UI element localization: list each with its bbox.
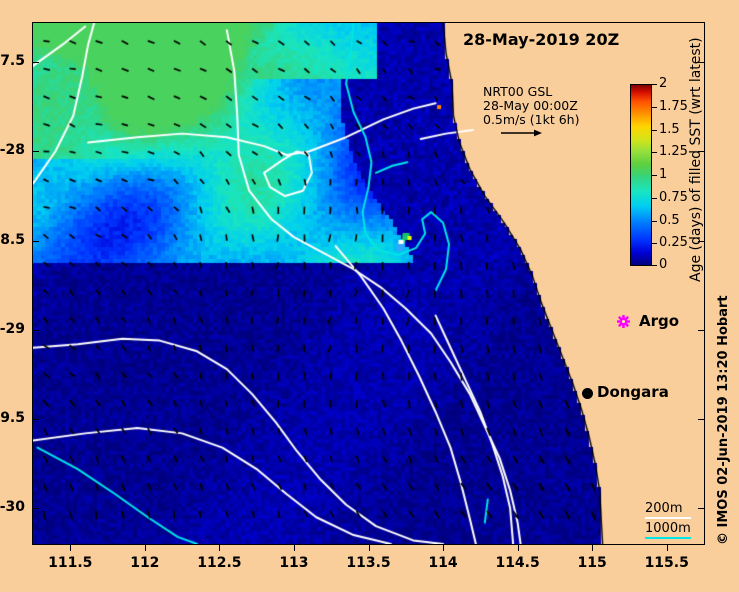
colorbar-tick bbox=[652, 130, 657, 131]
x-axis-label: 113 bbox=[264, 555, 324, 571]
colorbar-tick-label: 2 bbox=[659, 76, 667, 91]
x-axis-label: 113.5 bbox=[339, 555, 399, 571]
x-axis-tick bbox=[518, 544, 519, 551]
x-axis-label: 115 bbox=[562, 555, 622, 571]
x-axis-tick bbox=[219, 544, 220, 551]
colorbar-gradient bbox=[630, 84, 652, 266]
figure-root: 28-May-2019 20Z NRT00 GSL 28-May 00:00Z … bbox=[0, 0, 739, 592]
colorbar-tick bbox=[652, 198, 657, 199]
vector-legend-line-1: NRT00 GSL bbox=[483, 85, 579, 99]
x-axis-tick bbox=[145, 544, 146, 551]
x-axis-label: 112 bbox=[115, 555, 175, 571]
x-axis-tick bbox=[443, 544, 444, 551]
x-axis-label: 115.5 bbox=[637, 555, 697, 571]
colorbar-tick bbox=[652, 243, 657, 244]
argo-star-icon bbox=[617, 315, 630, 328]
colorbar-tick bbox=[652, 152, 657, 153]
bathymetry-depth-legend: 200m 1000m bbox=[645, 500, 691, 540]
x-axis-label: 114 bbox=[413, 555, 473, 571]
y-axis-tick-right bbox=[698, 151, 705, 152]
x-axis-label: 114.5 bbox=[488, 555, 548, 571]
argo-legend-label: Argo bbox=[639, 312, 679, 330]
y-axis-label: -28 bbox=[0, 142, 25, 158]
colorbar-tick-label: 0.25 bbox=[659, 235, 688, 250]
x-axis-tick bbox=[294, 544, 295, 551]
y-axis-tick bbox=[32, 151, 39, 152]
colorbar-axis-title: Age (days) of filled SST (wrt latest) bbox=[688, 72, 704, 282]
colorbar-tick-label: 1.5 bbox=[659, 122, 680, 137]
depth-legend-label-200m: 200m bbox=[645, 501, 682, 516]
y-axis-tick-right bbox=[698, 330, 705, 331]
depth-legend-row-1000m: 1000m bbox=[645, 520, 691, 540]
credit-text: © IMOS 02-Jun-2019 13:20 Hobart bbox=[716, 285, 731, 545]
dongara-label: Dongara bbox=[597, 383, 669, 401]
y-axis-tick-right bbox=[698, 62, 705, 63]
y-axis-label: -28.5 bbox=[0, 232, 25, 248]
y-axis-tick bbox=[32, 62, 39, 63]
depth-legend-rule-200m bbox=[645, 517, 691, 519]
y-axis-tick-right bbox=[698, 508, 705, 509]
y-axis-tick bbox=[32, 419, 39, 420]
y-axis-tick bbox=[32, 330, 39, 331]
map-title: 28-May-2019 20Z bbox=[463, 30, 619, 49]
map-overlays bbox=[33, 23, 704, 544]
depth-legend-rule-1000m bbox=[645, 537, 691, 539]
x-axis-tick bbox=[667, 544, 668, 551]
colorbar-tick bbox=[652, 175, 657, 176]
right-arrow-icon bbox=[500, 128, 542, 138]
y-axis-tick-right bbox=[698, 241, 705, 242]
colorbar-tick-label: 1.75 bbox=[659, 99, 688, 114]
colorbar-tick bbox=[652, 221, 657, 222]
y-axis-tick-right bbox=[698, 419, 705, 420]
y-axis-tick bbox=[32, 241, 39, 242]
argo-legend: Argo bbox=[617, 312, 679, 330]
colorbar-tick-label: 1 bbox=[659, 167, 667, 182]
colorbar-tick-label: 0 bbox=[659, 257, 667, 272]
colorbar[interactable]: 21.751.51.2510.750.50.250 bbox=[630, 84, 652, 266]
y-axis-tick bbox=[32, 508, 39, 509]
y-axis-label: -29.5 bbox=[0, 410, 25, 426]
colorbar-tick bbox=[652, 107, 657, 108]
colorbar-tick bbox=[652, 265, 657, 266]
dongara-marker-dot bbox=[582, 388, 593, 399]
depth-legend-label-1000m: 1000m bbox=[645, 521, 691, 536]
x-axis-tick bbox=[70, 544, 71, 551]
depth-legend-row-200m: 200m bbox=[645, 500, 691, 520]
x-axis-tick bbox=[592, 544, 593, 551]
colorbar-tick-label: 1.25 bbox=[659, 144, 688, 159]
colorbar-tick-label: 0.75 bbox=[659, 190, 688, 205]
current-vector-legend: NRT00 GSL 28-May 00:00Z 0.5m/s (1kt 6h) bbox=[483, 85, 579, 127]
x-axis-tick bbox=[369, 544, 370, 551]
map-plot-area[interactable] bbox=[32, 22, 705, 545]
y-axis-label: -29 bbox=[0, 321, 25, 337]
x-axis-label: 112.5 bbox=[189, 555, 249, 571]
colorbar-tick bbox=[652, 84, 657, 85]
y-axis-label: -30 bbox=[0, 499, 25, 515]
colorbar-tick-label: 0.5 bbox=[659, 213, 680, 228]
x-axis-label: 111.5 bbox=[40, 555, 100, 571]
vector-legend-line-2: 28-May 00:00Z bbox=[483, 99, 579, 113]
y-axis-label: -27.5 bbox=[0, 53, 25, 69]
vector-legend-line-3: 0.5m/s (1kt 6h) bbox=[483, 113, 579, 127]
